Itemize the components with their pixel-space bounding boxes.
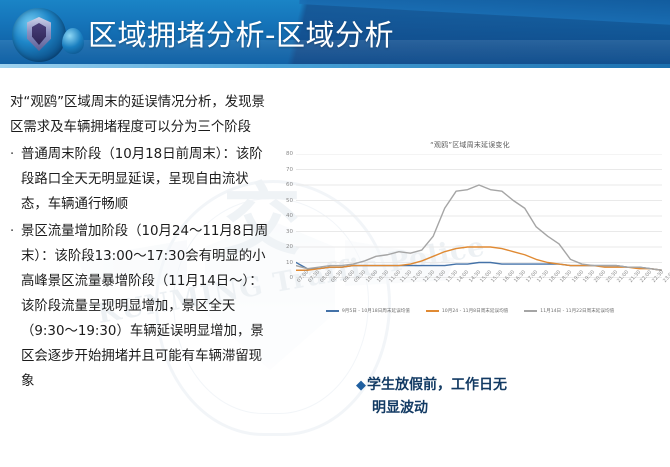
chart-x-axis: 07:0007:3008:0008:3009:0009:3010:0010:30… [296, 280, 662, 306]
intro-paragraph: 对“观鸥”区域周末的延误情况分析，发现景区需求及车辆拥堵程度可以分为三个阶段 [10, 90, 272, 140]
bullet-text: 普通周末阶段（10月18日前周末）：该阶段路口全天无明显延误，呈现自由流状态，车… [21, 142, 272, 217]
chart-title: “观鸥”区域周末延误变化 [276, 140, 664, 150]
y-axis-tick-label: 40 [286, 213, 293, 219]
y-axis-tick-label: 20 [286, 244, 293, 250]
police-badge-logo-icon [12, 8, 66, 62]
badge-shield-icon [27, 17, 51, 51]
y-axis-tick-label: 30 [286, 229, 293, 235]
y-axis-tick-label: 50 [286, 198, 293, 204]
y-axis-tick-label: 10 [286, 260, 293, 266]
legend-swatch-icon [326, 310, 339, 312]
y-axis-tick-label: 80 [286, 151, 293, 157]
y-axis-tick-label: 60 [286, 182, 293, 188]
water-drop-icon [62, 28, 84, 54]
chart-svg [296, 154, 662, 278]
page-title: 区域拥堵分析-区域分析 [88, 12, 394, 54]
header-underline [0, 64, 670, 68]
legend-item-0: 9月5日 - 10月18日周末延误均值 [326, 308, 410, 314]
chart-series-line-2 [296, 185, 662, 270]
legend-swatch-icon [524, 310, 537, 312]
note-line-1: 学生放假前，工作日无 [367, 377, 507, 393]
bullet-item-2: · 景区流量增加阶段（10月24～11月8日周末）：该阶段13:00～17:30… [10, 219, 272, 394]
y-axis-tick-label: 0 [290, 275, 294, 281]
legend-label: 10月24 - 11月8日周末延误均值 [442, 308, 508, 314]
bullet-item-1: · 普通周末阶段（10月18日前周末）：该阶段路口全天无明显延误，呈现自由流状态… [10, 142, 272, 217]
diamond-bullet-icon: ◆ [356, 378, 366, 393]
y-axis-tick-label: 70 [286, 167, 293, 173]
legend-label: 9月5日 - 10月18日周末延误均值 [342, 308, 410, 314]
chart-legend: 9月5日 - 10月18日周末延误均值10月24 - 11月8日周末延误均值11… [276, 308, 664, 314]
delay-line-chart: “观鸥”区域周末延误变化 01020304050607080 07:0007:3… [276, 140, 664, 320]
summary-note: ◆学生放假前，工作日无 明显波动 [356, 374, 616, 420]
chart-series-line-1 [296, 247, 662, 270]
legend-swatch-icon [426, 310, 439, 312]
chart-plot-area [296, 154, 662, 278]
legend-item-1: 10月24 - 11月8日周末延误均值 [426, 308, 508, 314]
legend-item-2: 11月14日 - 11月22日周末延误均值 [524, 308, 614, 314]
left-text-column: 对“观鸥”区域周末的延误情况分析，发现景区需求及车辆拥堵程度可以分为三个阶段 ·… [10, 90, 272, 394]
bullet-marker: · [10, 219, 21, 394]
bullet-text: 景区流量增加阶段（10月24～11月8日周末）：该阶段13:00～17:30会有… [21, 219, 272, 394]
bullet-marker: · [10, 142, 21, 217]
chart-y-axis: 01020304050607080 [276, 150, 294, 280]
legend-label: 11月14日 - 11月22日周末延误均值 [540, 308, 614, 314]
note-line-2: 明显波动 [372, 397, 616, 420]
